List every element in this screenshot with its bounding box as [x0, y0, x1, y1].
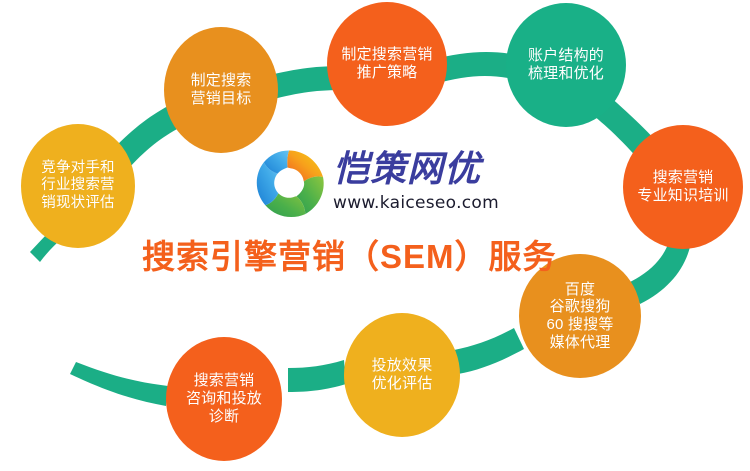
node-label: 投放效果 优化评估	[372, 357, 433, 392]
sem-service-infographic: 竞争对手和 行业搜索营 销现状评估 制定搜索 营销目标 制定搜索营销 推广策略 …	[0, 0, 750, 471]
node-label: 账户结构的 梳理和优化	[528, 47, 604, 82]
node-consult-diagnosis[interactable]: 搜索营销 咨询和投放 诊断	[166, 337, 282, 461]
ribbon-segment-7	[288, 360, 346, 392]
center-brand-block: 恺策网优 www.kaiceseo.com 搜索引擎营销（SEM）服务	[252, 146, 520, 286]
node-label: 制定搜索 营销目标	[191, 72, 252, 107]
node-effect-evaluation[interactable]: 投放效果 优化评估	[344, 313, 460, 437]
brand-logo-row: 恺策网优 www.kaiceseo.com	[252, 146, 499, 220]
node-label: 制定搜索营销 推广策略	[341, 46, 432, 81]
brand-url[interactable]: www.kaiceseo.com	[333, 195, 499, 212]
brand-name: 恺策网优	[333, 152, 499, 188]
ribbon-segment-bottom-tail	[70, 362, 168, 406]
node-training[interactable]: 搜索营销 专业知识培训	[623, 125, 743, 249]
node-promotion-strategy[interactable]: 制定搜索营销 推广策略	[327, 2, 447, 126]
node-account-structure[interactable]: 账户结构的 梳理和优化	[506, 3, 626, 127]
brand-text-group: 恺策网优 www.kaiceseo.com	[333, 152, 499, 212]
node-label: 百度 谷歌搜狗 60 搜搜等 媒体代理	[546, 281, 613, 352]
node-label: 竞争对手和 行业搜索营 销现状评估	[41, 160, 115, 211]
node-label: 搜索营销 咨询和投放 诊断	[186, 372, 262, 425]
node-set-goals[interactable]: 制定搜索 营销目标	[164, 27, 278, 153]
tri-lobe-circle-logo-icon	[252, 146, 326, 220]
ribbon-segment-6	[454, 328, 524, 374]
node-label: 搜索营销 专业知识培训	[637, 169, 728, 204]
node-competitor-analysis[interactable]: 竞争对手和 行业搜索营 销现状评估	[21, 124, 135, 248]
page-title: 搜索引擎营销（SEM）服务	[142, 240, 572, 273]
